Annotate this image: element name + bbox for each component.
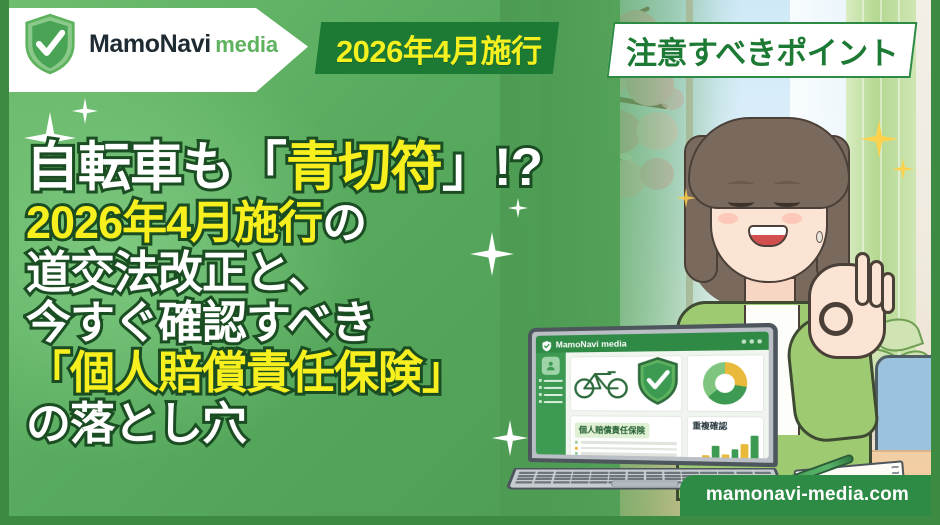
date-badge-label: 2026年4月施行 [336, 26, 542, 71]
headline-seg-highlight: 青切符 [286, 138, 442, 197]
headline-line-4: 今すぐ確認すべき [26, 298, 586, 348]
point-badge-label: 注意すべきポイント [626, 28, 898, 73]
shield-check-icon [22, 13, 78, 75]
donut-chart [687, 354, 764, 412]
bicycle-shield-card [570, 355, 683, 412]
headline-line-6: の落とし穴 [26, 398, 586, 450]
thumbnail-canvas: MamoNavi media [0, 0, 940, 525]
list-item [575, 441, 677, 446]
ok-hand-gesture [808, 263, 886, 359]
headline-seg-highlight: 2026年4月施行 [26, 197, 322, 248]
headline-line-5: 「個人賠償責任保険」 [26, 348, 586, 398]
headline-seg: の [322, 197, 366, 248]
laptop-trackpad [611, 481, 679, 487]
point-badge: 注意すべきポイント [607, 22, 918, 78]
headline-seg-highlight: 個人賠償責任保険 [70, 347, 422, 398]
brand-logo: MamoNavi media [22, 13, 278, 75]
headline-seg-highlight: 」 [422, 347, 466, 398]
window-dots [742, 339, 762, 344]
headline-line-1: 自転車も「青切符」!? [26, 138, 586, 198]
shield-check-icon [637, 356, 680, 410]
bar-chart-title: 重複確認 [692, 420, 758, 432]
headline-line-2: 2026年4月施行の [26, 198, 586, 248]
headline-block: 自転車も「青切符」!? 2026年4月施行の 道交法改正と、 今すぐ確認すべき … [26, 138, 586, 450]
border-right [931, 0, 940, 525]
logo-secondary-text: media [215, 32, 278, 57]
bar-chart-plot [692, 434, 758, 459]
bar [712, 446, 720, 458]
bar [721, 455, 729, 459]
headline-seg: 」!? [442, 138, 542, 197]
bar [731, 449, 739, 458]
headline-line-3: 道交法改正と、 [26, 248, 586, 298]
logo-primary-text: MamoNavi [89, 30, 211, 58]
headline-seg-highlight: 「 [26, 347, 70, 398]
site-watermark: mamonavi-media.com [680, 475, 931, 516]
top-bar: MamoNavi media 2026年4月施行 注意すべきポイント [0, 0, 940, 100]
list-item [575, 452, 677, 457]
list-item [575, 446, 677, 451]
border-bottom [0, 516, 940, 525]
bar [741, 444, 749, 458]
border-left [0, 0, 9, 525]
date-badge: 2026年4月施行 [315, 22, 559, 74]
insurance-card: 個人賠償責任保険 [570, 415, 683, 458]
list-item [575, 457, 677, 458]
bar [751, 436, 759, 458]
headline-seg: 自転車も「 [26, 138, 286, 197]
bar [702, 456, 709, 459]
bar-chart-card: 重複確認 [687, 416, 764, 458]
